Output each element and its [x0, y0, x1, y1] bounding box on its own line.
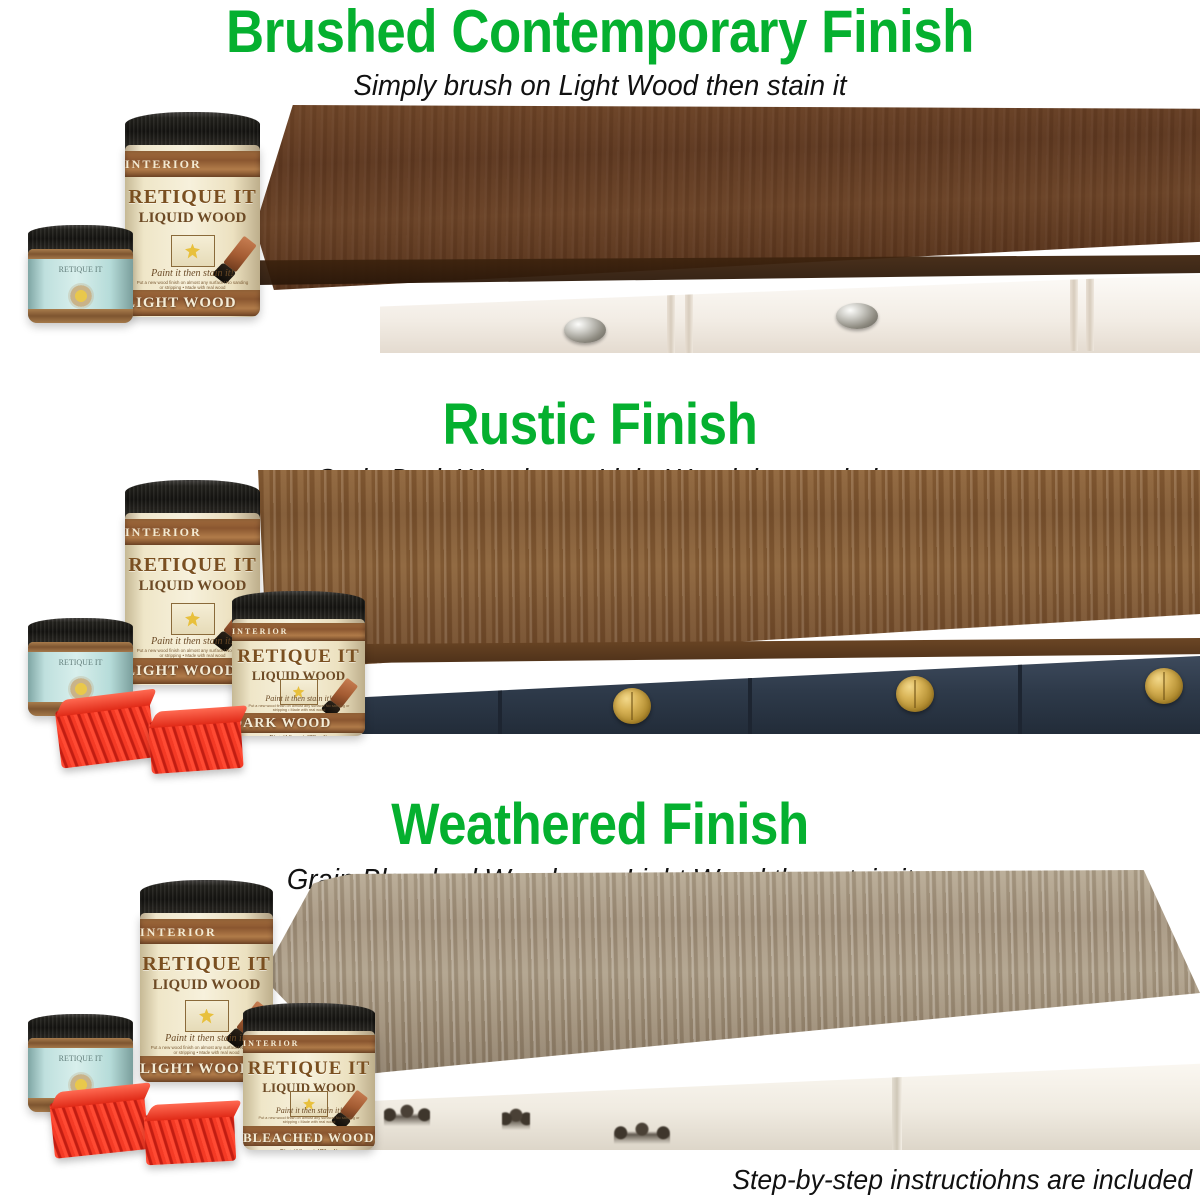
fleur-de-lis-icon	[185, 612, 200, 627]
jar-label-face: RETIQUE IT LIQUID WOOD Paint it then sta…	[232, 641, 365, 715]
drawer-pull-ornate	[384, 1104, 430, 1128]
drawer-divider	[892, 1070, 902, 1150]
drawer-divider	[667, 279, 675, 353]
jar-brand-text: RETIQUE IT	[33, 1054, 128, 1063]
jar-variant-name: BLEACHED WOOD	[243, 1130, 375, 1146]
footnote-text: Step-by-step instructiohns are included	[732, 1164, 1192, 1196]
wood-graining-rocker-tool	[148, 716, 243, 774]
jar-bottom-wood-band: LIGHT WOOD	[125, 290, 260, 316]
drawer-divider	[498, 680, 502, 734]
drawer-divider	[1070, 273, 1078, 351]
jar-bottom-wood-band: DARK WOOD	[232, 713, 365, 733]
jar-size-text: Pint (16 oz / 473 ml)	[232, 734, 365, 736]
jar-interior-text: INTERIOR	[140, 925, 273, 940]
jar-interior-text: INTERIOR	[232, 627, 365, 636]
section-heading: Brushed Contemporary Finish	[72, 0, 1128, 62]
drawer-pull-ornate	[614, 1122, 670, 1146]
furniture-photo-weathered	[262, 870, 1200, 1150]
drawer-front-row	[322, 1060, 1200, 1150]
jar-body: RETIQUE IT	[28, 249, 133, 323]
jar-bottom-wood-band: BLEACHED WOOD	[243, 1126, 375, 1146]
jar-top-wood-band: INTERIOR	[232, 623, 365, 641]
jar-tagline: Paint it then stain it!	[125, 268, 260, 279]
jar-interior-text: INTERIOR	[243, 1039, 375, 1048]
section-rustic: Rustic Finish Grain Dark Wood over Light…	[0, 378, 1200, 778]
jar-body: INTERIOR RETIQUE IT LIQUID WOOD Paint it…	[243, 1031, 375, 1150]
jar-brand-text: RETIQUE IT	[140, 953, 273, 976]
fleur-de-lis-icon	[185, 244, 200, 259]
jar-crest-emblem	[171, 235, 215, 267]
drawer-knob-brass	[613, 688, 651, 724]
section-heading: Rustic Finish	[72, 378, 1128, 454]
jar-brand-text: RETIQUE IT	[232, 646, 365, 668]
jar-top-wood-band	[28, 1038, 133, 1048]
jar-crest-emblem	[171, 603, 215, 635]
jar-brand-text: RETIQUE IT	[243, 1058, 375, 1080]
product-jar-dark-wood-pint: INTERIOR RETIQUE IT LIQUID WOOD Paint it…	[232, 591, 365, 736]
jar-top-wood-band: INTERIOR	[243, 1035, 375, 1053]
jar-top-wood-band	[28, 642, 133, 652]
drawer-divider	[1086, 273, 1094, 351]
jar-top-wood-band	[28, 249, 133, 259]
jar-brand-text: RETIQUE IT	[125, 554, 260, 577]
jar-brand-text: RETIQUE IT	[125, 186, 260, 209]
jar-label-face: RETIQUE IT LIQUID WOOD Paint it then sta…	[243, 1053, 375, 1128]
fleur-de-lis-icon	[199, 1009, 214, 1024]
section-brushed-contemporary: Brushed Contemporary Finish Simply brush…	[0, 0, 1200, 390]
drawer-knob-brass	[896, 676, 934, 712]
jar-crest-emblem	[68, 283, 94, 309]
wood-graining-rocker-tool	[144, 1111, 236, 1166]
paintbrush-icon	[223, 236, 257, 273]
jar-brand-text: RETIQUE IT	[33, 658, 128, 667]
drawer-divider	[685, 278, 693, 353]
jar-fine-print: Put a new wood finish on almost any surf…	[255, 1116, 363, 1125]
furniture-photo-rustic	[258, 470, 1200, 730]
product-jar-bleached-wood-pint: INTERIOR RETIQUE IT LIQUID WOOD Paint it…	[243, 1003, 375, 1150]
section-weathered: Weathered Finish Grain Bleached Wood ove…	[0, 778, 1200, 1200]
drawer-front-row	[328, 656, 1200, 734]
jar-interior-text: INTERIOR	[125, 525, 260, 540]
drawer-pull-ornate	[502, 1108, 530, 1132]
jar-product-text: LIQUID WOOD	[140, 977, 273, 994]
drawer-front-row	[380, 273, 1200, 353]
drawer-divider	[748, 668, 752, 734]
jar-crest-emblem	[185, 1000, 229, 1032]
jar-tagline: Paint it then stain it!	[243, 1106, 375, 1115]
jar-fine-print: Put a new wood finish on almost any surf…	[135, 280, 250, 290]
drawer-knob-silver	[564, 317, 606, 343]
wood-graining-rocker-tool	[55, 699, 156, 768]
jar-tagline: Paint it then stain it!	[232, 694, 365, 703]
product-jar-light-wood-quart: INTERIOR RETIQUE IT LIQUID WOOD Paint it…	[125, 112, 260, 317]
jar-label-face: RETIQUE IT LIQUID WOOD Paint it then sta…	[125, 177, 260, 292]
drawer-divider	[1018, 660, 1022, 734]
drawer-knob-silver	[836, 303, 878, 329]
drawer-knob-brass	[1145, 668, 1183, 704]
jar-fine-print: Put a new wood finish on almost any surf…	[244, 704, 354, 713]
jar-top-wood-band: INTERIOR	[125, 151, 260, 177]
table-top-surface	[262, 870, 1200, 1075]
jar-top-wood-band: INTERIOR	[140, 919, 273, 944]
section-subheading: Simply brush on Light Wood then stain it	[30, 62, 1170, 103]
jar-variant-name: DARK WOOD	[232, 716, 365, 732]
product-jar-mint-pint: RETIQUE IT	[28, 225, 133, 323]
wood-graining-rocker-tool	[49, 1093, 149, 1159]
jar-bottom-wood-band	[28, 309, 133, 323]
jar-body: INTERIOR RETIQUE IT LIQUID WOOD Paint it…	[125, 145, 260, 317]
section-heading: Weathered Finish	[72, 778, 1128, 854]
jar-interior-text: INTERIOR	[125, 157, 260, 172]
jar-variant-name: LIGHT WOOD	[125, 295, 260, 312]
jar-product-text: LIQUID WOOD	[125, 210, 260, 227]
jar-brand-text: RETIQUE IT	[33, 265, 128, 274]
furniture-photo-brushed-contemporary	[255, 105, 1200, 350]
jar-size-text: Pint (16 oz / 473 ml)	[243, 1148, 375, 1150]
poster-canvas: Brushed Contemporary Finish Simply brush…	[0, 0, 1200, 1200]
jar-top-wood-band: INTERIOR	[125, 519, 260, 545]
jar-body: INTERIOR RETIQUE IT LIQUID WOOD Paint it…	[232, 619, 365, 736]
